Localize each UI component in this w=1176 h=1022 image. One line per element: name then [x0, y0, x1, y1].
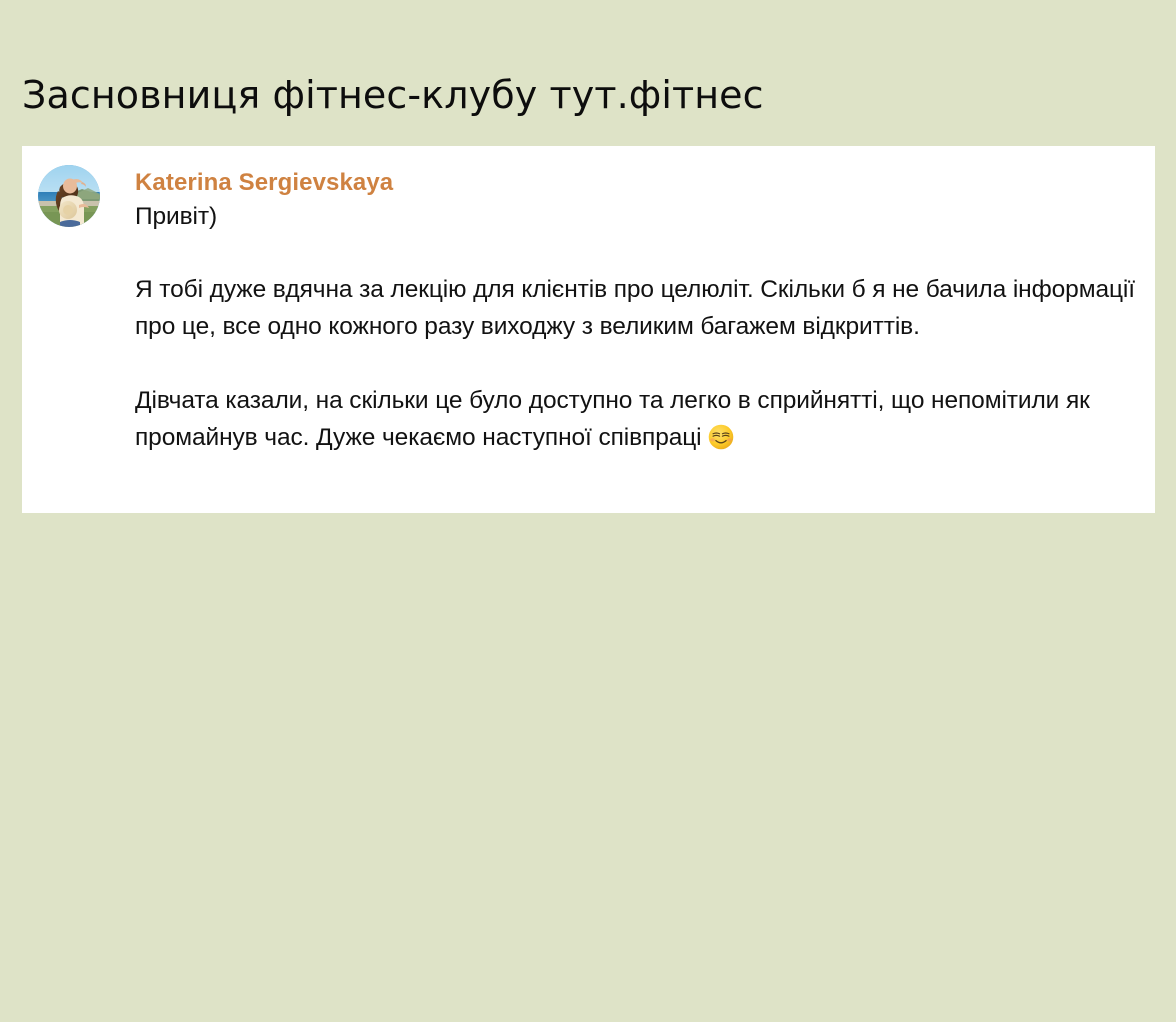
chat-message: Katerina Sergievskaya Привіт) Я тобі дуж…: [22, 146, 1155, 513]
testimonial-card: Katerina Sergievskaya Привіт) Я тобі дуж…: [22, 146, 1155, 513]
message-paragraph-2-text: Дівчата казали, на скільки це було досту…: [135, 387, 1096, 451]
paragraph-spacer: [135, 345, 1143, 382]
paragraph-spacer: [135, 234, 1143, 271]
message-paragraph-1: Я тобі дуже вдячна за лекцію для клієнті…: [135, 271, 1143, 345]
message-body: Katerina Sergievskaya Привіт) Я тобі дуж…: [135, 168, 1143, 456]
message-paragraph-2: Дівчата казали, на скільки це було досту…: [135, 382, 1143, 456]
message-greeting: Привіт): [135, 200, 1143, 234]
page-title-line-1: Засновниця фітнес-клубу тут.фітнес: [22, 66, 1122, 124]
message-author-name[interactable]: Katerina Sergievskaya: [135, 168, 1143, 198]
relieved-face-emoji: [708, 423, 734, 451]
user-avatar-photo-icon[interactable]: [38, 165, 100, 227]
